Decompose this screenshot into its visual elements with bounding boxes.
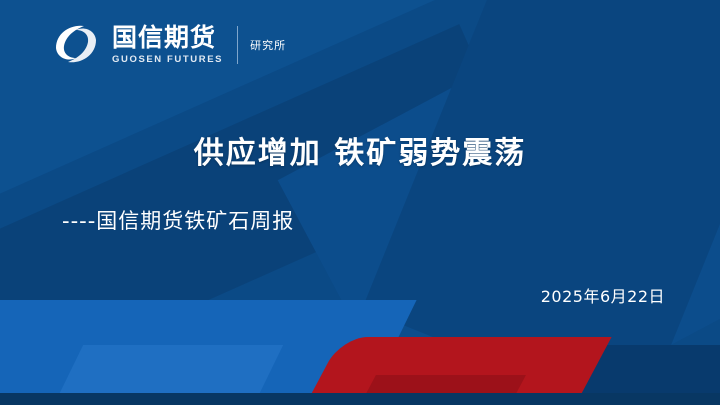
bottom-strip: [0, 393, 720, 405]
brand-name-en: GUOSEN FUTURES: [112, 55, 223, 65]
guosen-futures-logo-icon: [50, 20, 104, 70]
report-date: 2025年6月22日: [541, 283, 665, 307]
brand-name-cn: 国信期货: [112, 25, 223, 50]
brand-logo: 国信期货 GUOSEN FUTURES 研究所: [50, 18, 286, 72]
title-slide: 国信期货 GUOSEN FUTURES 研究所 供应增加 铁矿弱势震荡 ----…: [0, 0, 720, 405]
logo-divider: [237, 26, 238, 64]
page-title: 供应增加 铁矿弱势震荡: [0, 128, 720, 172]
brand-department: 研究所: [250, 37, 286, 53]
page-subtitle: ----国信期货铁矿石周报: [62, 205, 294, 235]
brand-wordmark: 国信期货 GUOSEN FUTURES: [112, 25, 223, 65]
